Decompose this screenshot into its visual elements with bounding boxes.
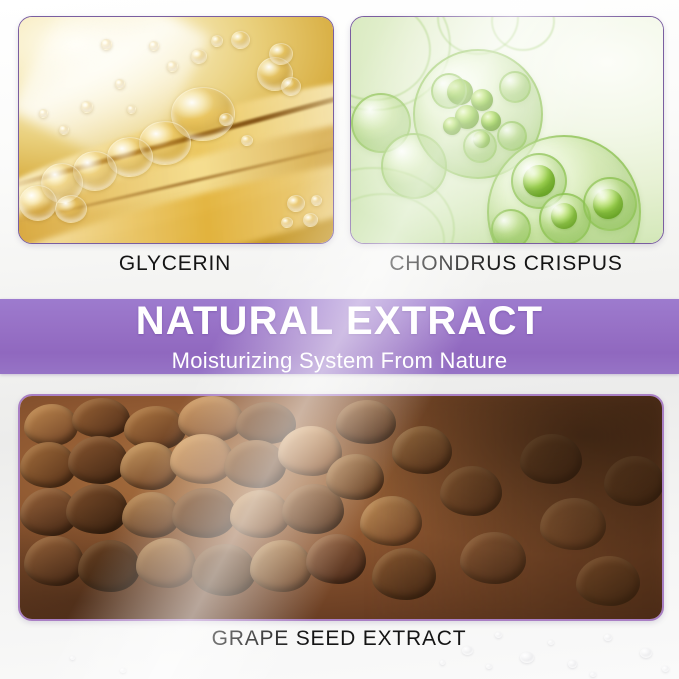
glycerin-image-card bbox=[18, 16, 334, 244]
banner-title: NATURAL EXTRACT bbox=[136, 301, 544, 341]
grape-seed-extract-image-card bbox=[18, 394, 664, 621]
chondrus-crispus-image-card bbox=[350, 16, 664, 244]
grape-seed-extract-caption: GRAPE SEED EXTRACT bbox=[18, 627, 660, 651]
glycerin-caption: GLYCERIN bbox=[18, 252, 332, 276]
grape-seed-extract-photo bbox=[20, 396, 662, 619]
ingredient-poster: GLYCERIN bbox=[0, 0, 679, 679]
banner-subtitle: Moisturizing System From Nature bbox=[172, 350, 508, 372]
chondrus-crispus-photo bbox=[351, 17, 663, 243]
glycerin-photo bbox=[19, 17, 333, 243]
natural-extract-banner: NATURAL EXTRACT Moisturizing System From… bbox=[0, 299, 679, 374]
chondrus-crispus-caption: CHONDRUS CRISPUS bbox=[350, 252, 662, 276]
